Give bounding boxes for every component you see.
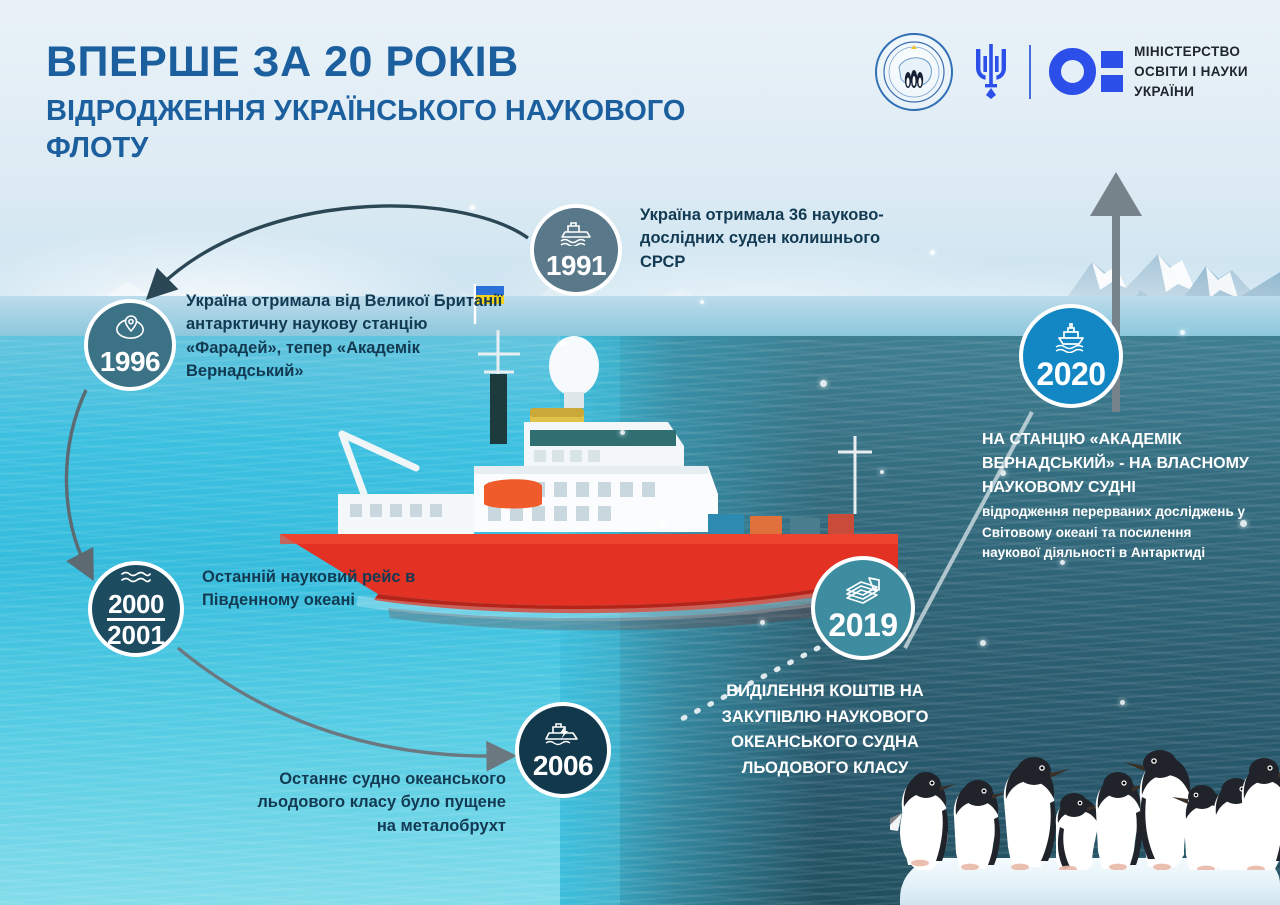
infographic-canvas: ВПЕРШЕ ЗА 20 РОКІВ ВІДРОДЖЕННЯ УКРАЇНСЬК… bbox=[0, 0, 1280, 905]
snowflake bbox=[760, 620, 765, 625]
ministry-line-2: ОСВІТИ І НАУКИ bbox=[1134, 62, 1248, 82]
snowflake bbox=[700, 300, 704, 304]
snowflake bbox=[1180, 330, 1185, 335]
ship-scrapped-icon bbox=[545, 720, 581, 751]
snowflake bbox=[560, 340, 566, 346]
page-header: ВПЕРШЕ ЗА 20 РОКІВ ВІДРОДЖЕННЯ УКРАЇНСЬК… bbox=[46, 40, 806, 167]
mon-circle-icon bbox=[1049, 48, 1096, 95]
antarctic-center-emblem[interactable] bbox=[875, 33, 953, 111]
snowflake bbox=[620, 430, 625, 435]
snowflake bbox=[980, 640, 986, 646]
year-label: 2020 bbox=[1036, 359, 1105, 390]
timeline-node-2000-2001[interactable]: 2000 2001 bbox=[88, 561, 184, 657]
waves-icon bbox=[120, 570, 152, 591]
timeline-node-2006[interactable]: 2006 bbox=[515, 702, 611, 798]
mon-equals-icon bbox=[1101, 51, 1123, 92]
ministry-line-1: МІНІСТЕРСТВО bbox=[1134, 42, 1248, 62]
ukraine-trident-icon bbox=[971, 40, 1011, 105]
snowflake bbox=[1120, 700, 1125, 705]
timeline-2020-body: відродження перерваних досліджень у Світ… bbox=[982, 502, 1252, 564]
snowflake bbox=[880, 470, 884, 474]
mon-mark-icon bbox=[1049, 48, 1123, 95]
timeline-2020-heading: НА СТАНЦІЮ «АКАДЕМІК ВЕРНАДСЬКИЙ» - НА В… bbox=[982, 428, 1252, 500]
adelie-penguins-image bbox=[890, 735, 1280, 870]
timeline-text-2000-2001: Останній науковий рейс в Південному океа… bbox=[202, 566, 432, 613]
timeline-node-1996[interactable]: 1996 bbox=[84, 299, 176, 391]
page-subtitle: ВІДРОДЖЕННЯ УКРАЇНСЬКОГО НАУКОВОГО ФЛОТУ bbox=[46, 93, 776, 167]
money-stack-icon bbox=[843, 574, 883, 609]
antarctica-map-pin-icon bbox=[111, 314, 149, 347]
year-label: 1996 bbox=[100, 348, 160, 375]
snowflake bbox=[660, 520, 666, 526]
year-label: 2000 bbox=[108, 591, 164, 617]
ministry-name: МІНІСТЕРСТВО ОСВІТИ І НАУКИ УКРАЇНИ bbox=[1134, 42, 1248, 101]
ship-waves-icon bbox=[559, 220, 593, 251]
timeline-text-2020: НА СТАНЦІЮ «АКАДЕМІК ВЕРНАДСЬКИЙ» - НА В… bbox=[982, 428, 1252, 564]
timeline-node-2019[interactable]: 2019 bbox=[811, 556, 915, 660]
ministry-line-3: УКРАЇНИ bbox=[1134, 82, 1248, 102]
timeline-text-2006: Останнє судно океанського льодового клас… bbox=[236, 768, 506, 838]
ministry-logo[interactable]: МІНІСТЕРСТВО ОСВІТИ І НАУКИ УКРАЇНИ bbox=[1049, 42, 1248, 101]
logo-divider bbox=[1029, 45, 1031, 99]
snowflake bbox=[470, 205, 475, 210]
year-label: 1991 bbox=[546, 252, 606, 279]
year-label: 2006 bbox=[533, 752, 593, 779]
timeline-node-1991[interactable]: 1991 bbox=[530, 204, 622, 296]
page-title: ВПЕРШЕ ЗА 20 РОКІВ bbox=[46, 40, 806, 85]
snowflake bbox=[930, 250, 935, 255]
timeline-text-1996: Україна отримала від Великої Британії ан… bbox=[186, 290, 516, 384]
ship-front-icon bbox=[1051, 321, 1091, 358]
logo-bar: МІНІСТЕРСТВО ОСВІТИ І НАУКИ УКРАЇНИ bbox=[875, 33, 1248, 111]
snowflake bbox=[820, 380, 827, 387]
timeline-node-2020[interactable]: 2020 bbox=[1019, 304, 1123, 408]
year-label-second: 2001 bbox=[107, 618, 165, 648]
timeline-text-1991: Україна отримала 36 науково-дослідних су… bbox=[640, 204, 920, 274]
year-label: 2019 bbox=[828, 610, 897, 641]
